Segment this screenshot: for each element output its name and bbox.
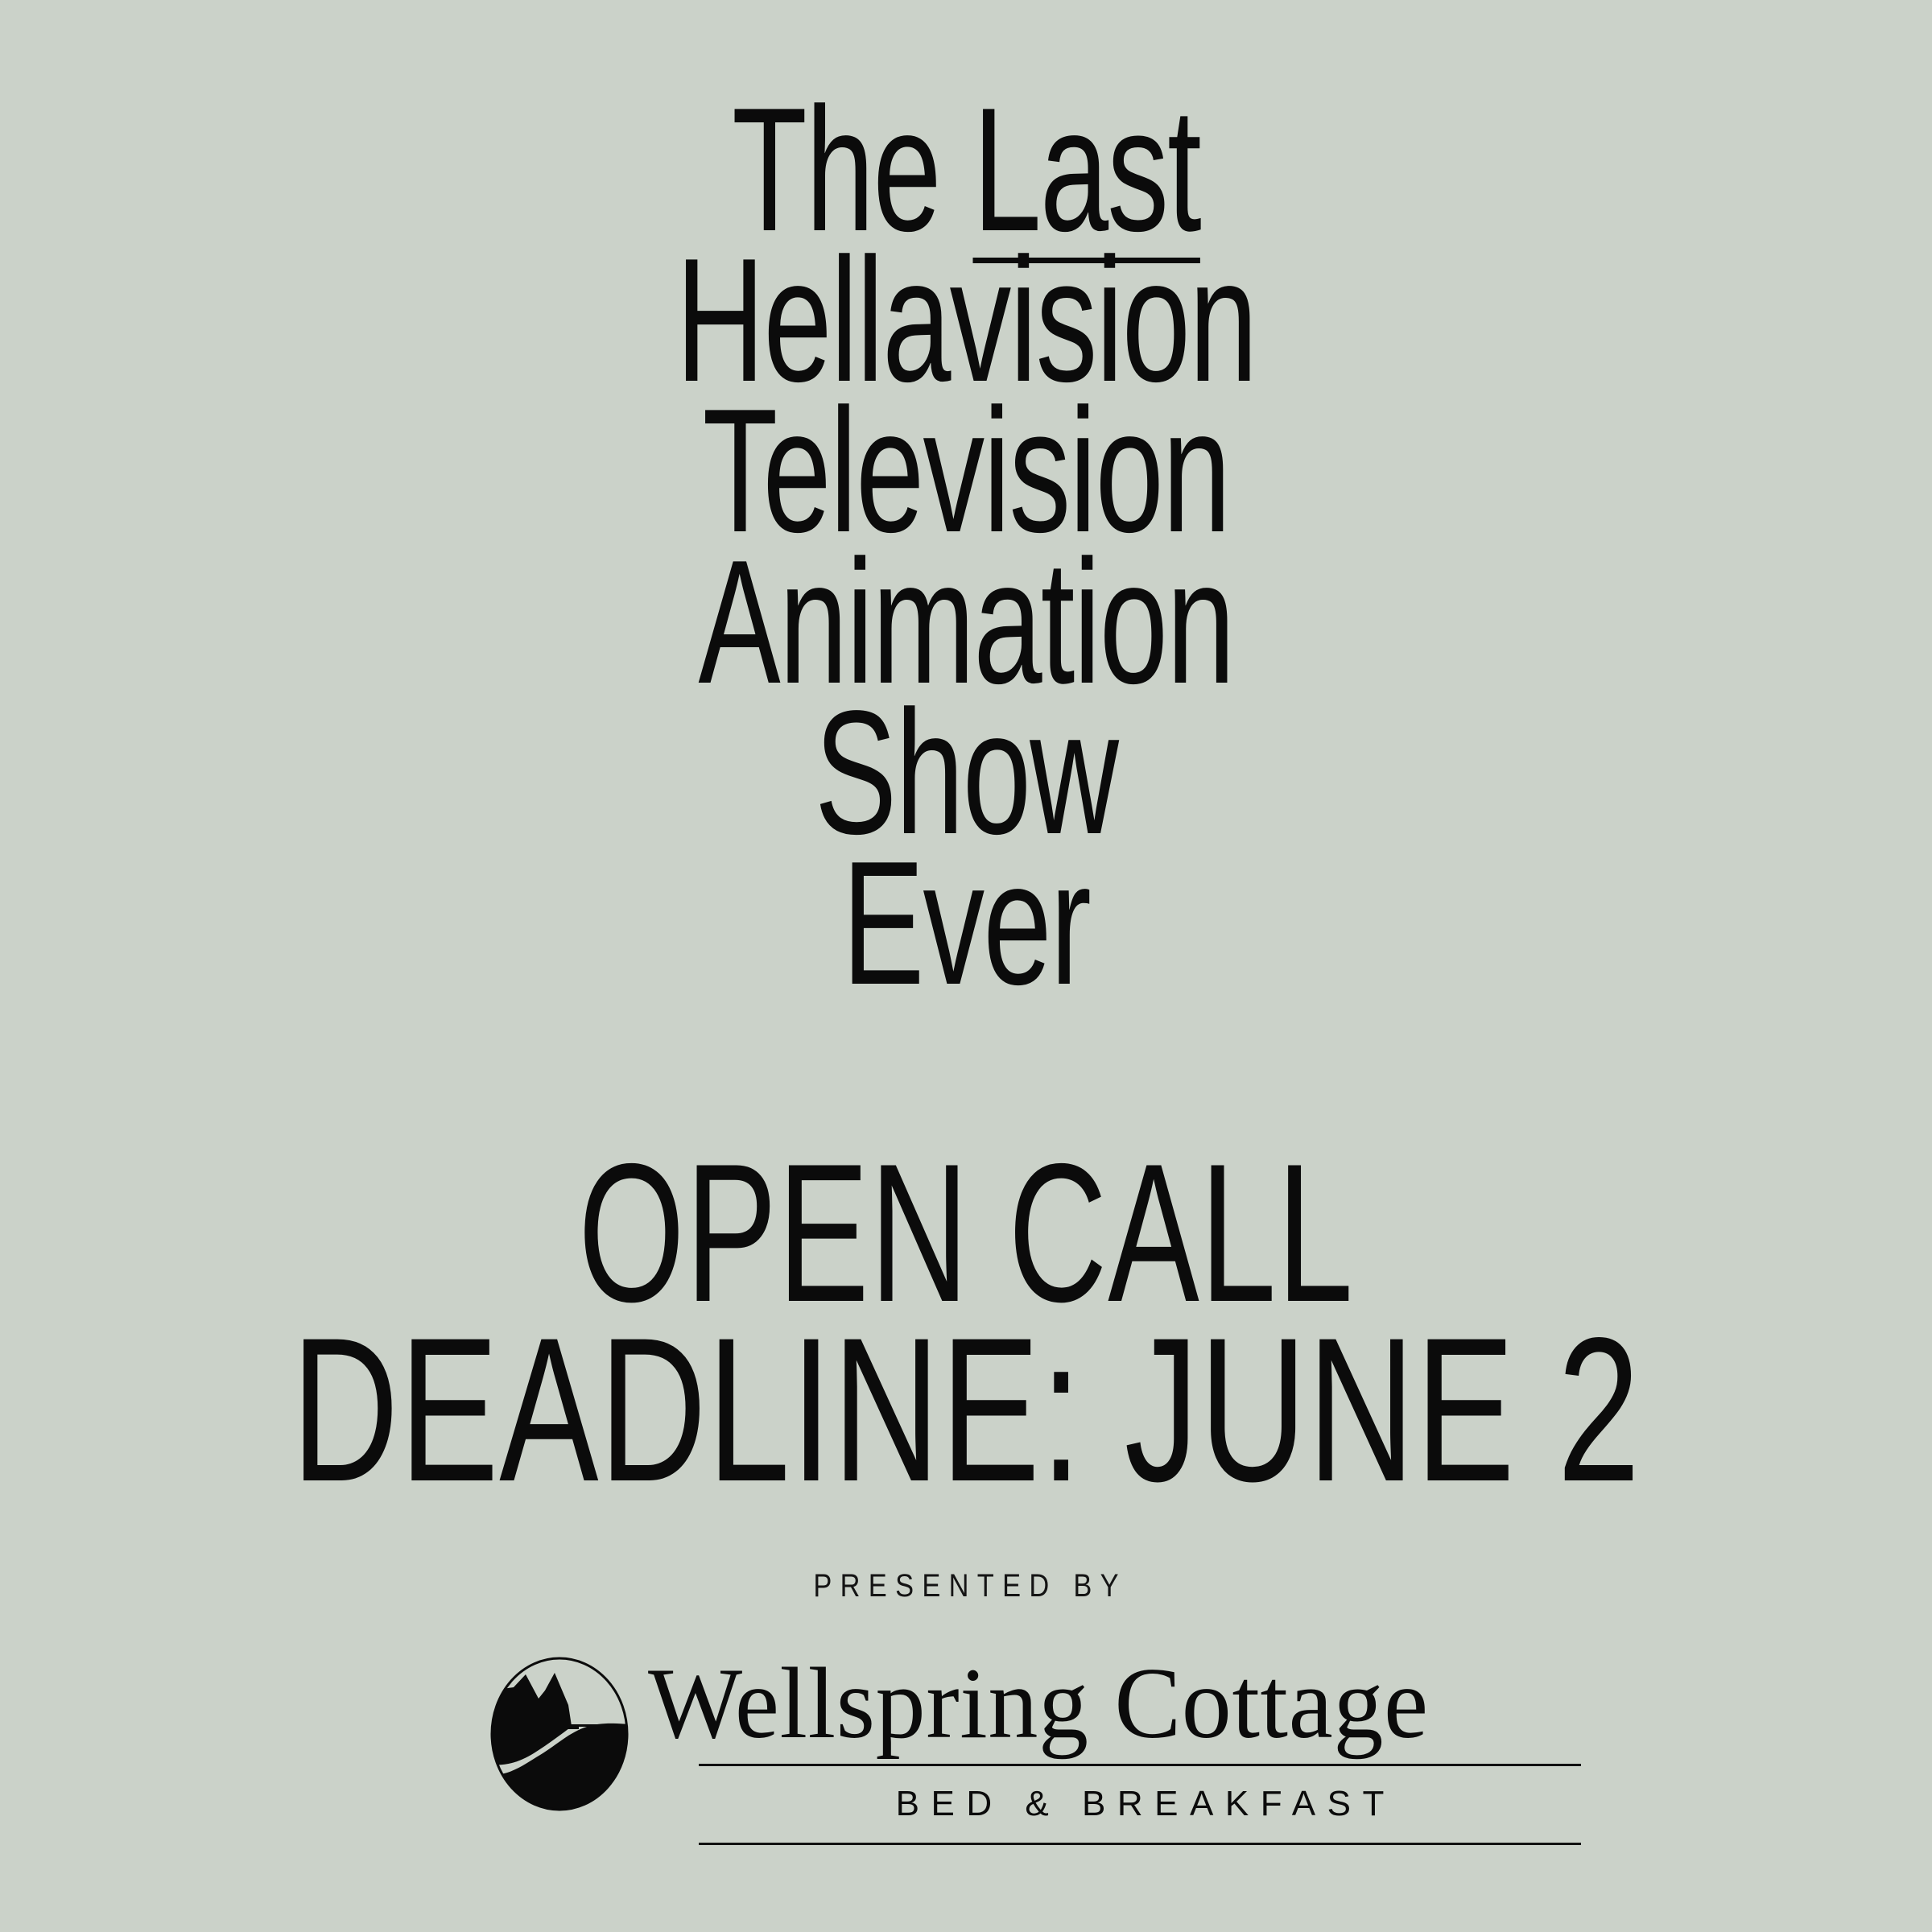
open-call-label: OPEN CALL	[295, 1146, 1637, 1320]
logo-rule-bottom	[699, 1843, 1581, 1845]
presented-by-label: PRESENTED BY	[135, 1568, 1797, 1604]
mountain-river-circle-icon	[489, 1655, 630, 1813]
sponsor-wordmark: Wellspring Cottage	[648, 1653, 1437, 1755]
headline-block: The Last Hellavision Television Animatio…	[0, 95, 1932, 999]
open-call-block: OPEN CALL DEADLINE: JUNE 2	[0, 1146, 1932, 1501]
sponsor-tagline: BED & BREAKFAST	[699, 1784, 1581, 1824]
poster-canvas: The Last Hellavision Television Animatio…	[0, 0, 1932, 1932]
deadline-label: DEADLINE: JUNE 2	[266, 1320, 1666, 1501]
logo-rule-top	[699, 1764, 1581, 1766]
sponsor-wordmark-group: Wellspring Cottage BED & BREAKFAST	[648, 1647, 1449, 1848]
headline-line-6: Ever	[290, 848, 1642, 999]
sponsor-logo-lockup: Wellspring Cottage BED & BREAKFAST	[483, 1647, 1449, 1848]
